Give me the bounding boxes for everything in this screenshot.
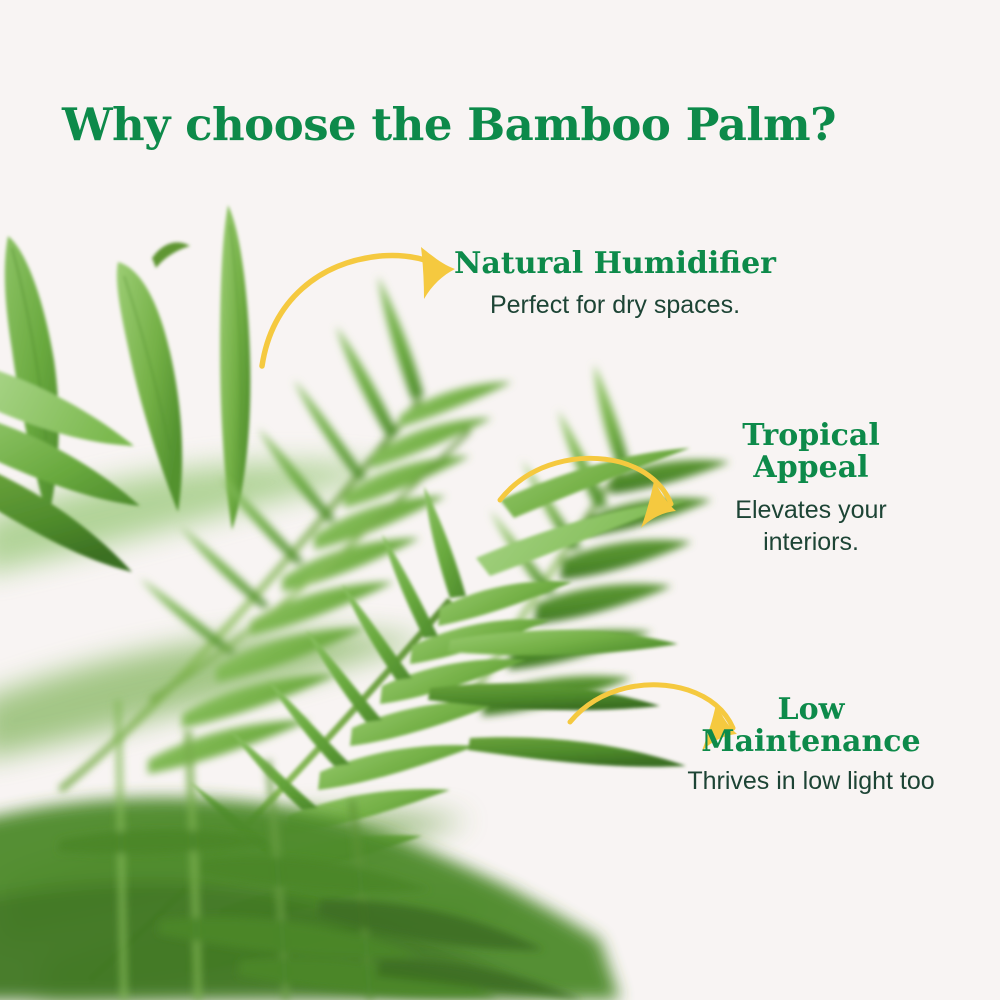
infographic-canvas: Why choose the Bamboo Palm? Natural Humi… [0,0,1000,1000]
callout-body: Thrives in low light too [686,765,936,797]
callout-natural-humidifier: Natural Humidifier Perfect for dry space… [440,248,790,321]
callout-tropical-appeal: Tropical Appeal Elevates your interiors. [686,420,936,558]
curved-arrow-icon-2 [500,458,676,528]
callout-low-maintenance: Low Maintenance Thrives in low light too [686,694,936,797]
page-title: Why choose the Bamboo Palm? [62,98,922,151]
callout-body: Elevates your interiors. [686,494,936,558]
callout-headline: Natural Humidifier [440,248,790,280]
curved-arrow-icon-1 [262,247,455,366]
callout-headline: Low Maintenance [686,694,936,759]
callout-headline: Tropical Appeal [686,420,936,485]
callout-body: Perfect for dry spaces. [440,289,790,321]
